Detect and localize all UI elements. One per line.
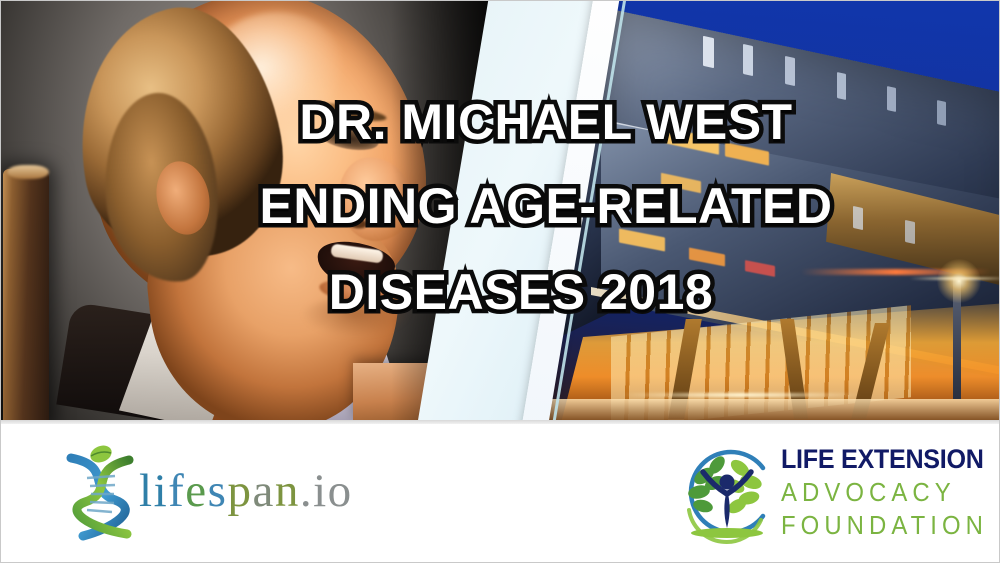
- video-thumbnail: DR. MICHAEL WEST ENDING AGE-RELATED DISE…: [0, 0, 1000, 563]
- title-line-3: DISEASES 2018: [1, 263, 1000, 321]
- wordmark-char: i: [154, 464, 169, 518]
- wordmark-char: p: [227, 464, 252, 518]
- wordmark-char: n: [275, 464, 300, 518]
- wordmark-char: i: [313, 464, 328, 518]
- leaf-wordmark: LIFE EXTENSION ADVOCACY FOUNDATION: [781, 444, 981, 541]
- tree-person-icon: [677, 438, 777, 546]
- wordmark-char: l: [139, 464, 154, 518]
- wordmark-char: a: [252, 464, 274, 518]
- title-line-2: ENDING AGE-RELATED: [1, 177, 1000, 235]
- lifespan-logo[interactable]: lifespan.io: [57, 444, 387, 544]
- leaf-line-3: FOUNDATION: [781, 510, 965, 541]
- leaf-line-1: LIFE EXTENSION: [781, 444, 967, 475]
- wordmark-char: s: [208, 464, 228, 518]
- title-line-1: DR. MICHAEL WEST: [1, 93, 1000, 151]
- title-overlay: DR. MICHAEL WEST ENDING AGE-RELATED DISE…: [1, 1, 1000, 421]
- lifespan-wordmark: lifespan.io: [139, 464, 353, 518]
- leaf-line-2: ADVOCACY: [781, 477, 965, 508]
- wordmark-char: o: [328, 464, 353, 518]
- leaf-logo[interactable]: LIFE EXTENSION ADVOCACY FOUNDATION: [677, 438, 977, 550]
- wordmark-char: f: [168, 464, 185, 518]
- thumbnail-image-area: DR. MICHAEL WEST ENDING AGE-RELATED DISE…: [1, 1, 1000, 421]
- wordmark-char: .: [300, 464, 313, 518]
- wordmark-char: e: [185, 464, 207, 518]
